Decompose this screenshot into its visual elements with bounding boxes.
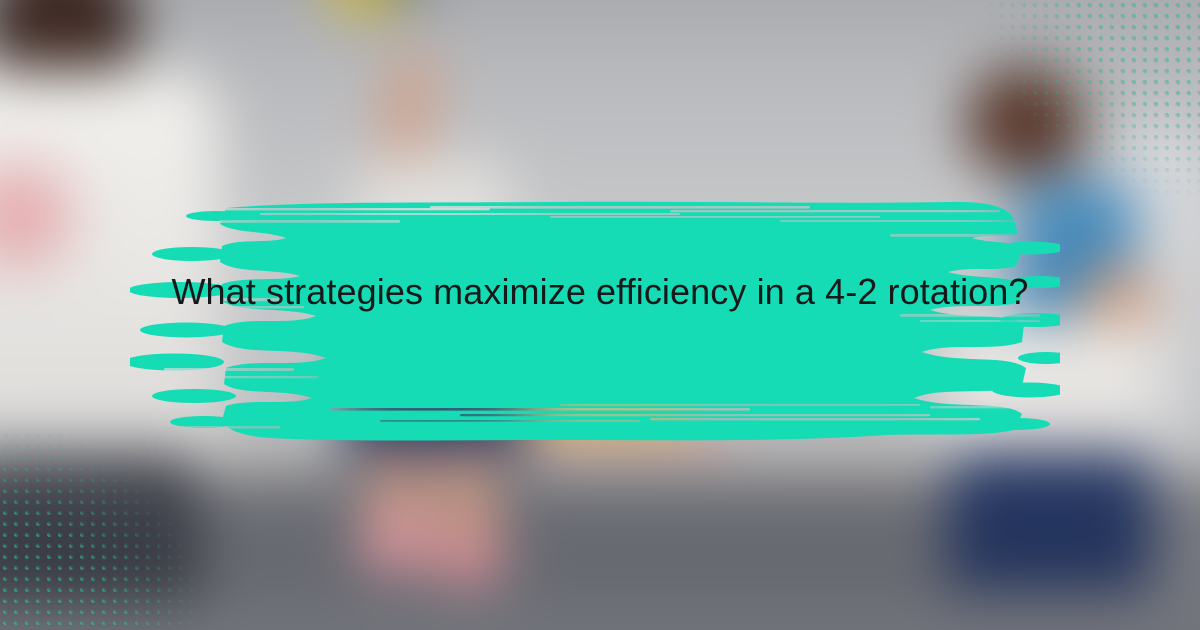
page-title: What strategies maximize efficiency in a… xyxy=(160,264,1040,320)
brush-stroke-shape xyxy=(130,190,1060,450)
player-center-shoe-right xyxy=(436,534,503,584)
background-floor-shadow xyxy=(157,472,978,602)
player-left-legs xyxy=(0,450,200,601)
player-center-shoe-left xyxy=(360,515,431,571)
brush-stroke-highlight xyxy=(130,190,1060,450)
share-card: What strategies maximize efficiency in a… xyxy=(0,0,1200,630)
player-right-hair xyxy=(967,67,1084,175)
player-right-shorts xyxy=(948,450,1153,590)
